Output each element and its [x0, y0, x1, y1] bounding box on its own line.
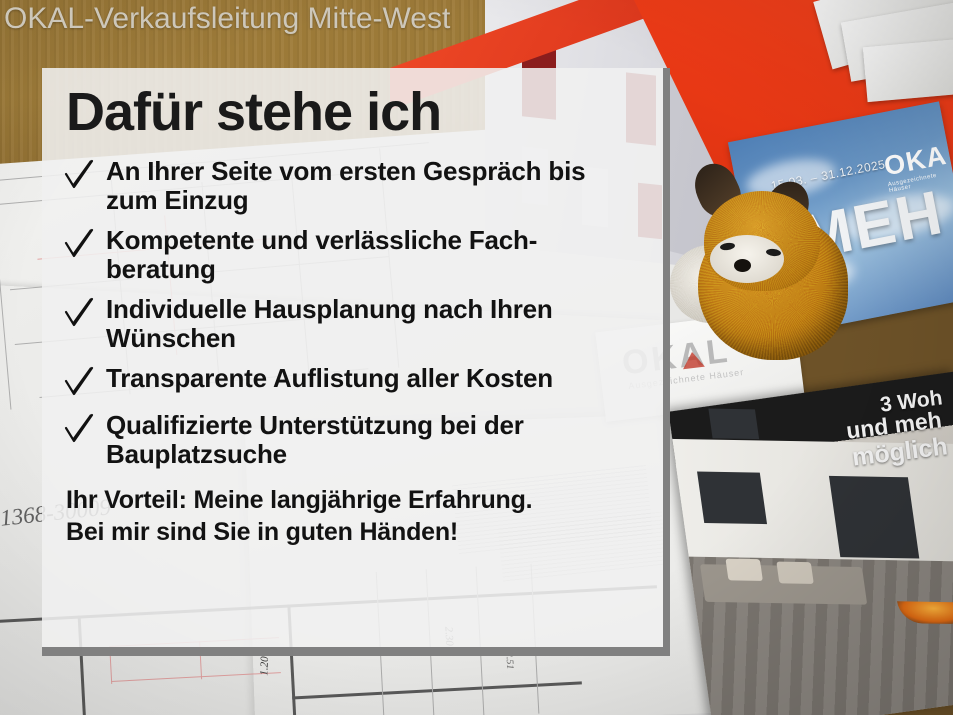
closing-line-2: Bei mir sind Sie in guten Händen! [66, 516, 637, 548]
slide-canvas: 2.30 2.51 1368-30009 1.20 15.03. – 31. [0, 0, 953, 715]
list-item: Individuelle Hausplanung nach Ihren Wüns… [64, 295, 637, 353]
checkmark-icon [64, 297, 94, 331]
list-item-label: Kompetente und verlässliche Fach-beratun… [106, 226, 637, 284]
page-title: OKAL-Verkaufsleitung Mitte-West [4, 2, 450, 36]
checkmark-icon [64, 413, 94, 447]
content-panel: Dafür stehe ich An Ihrer Seite vom erste… [42, 68, 670, 656]
closing-statement: Ihr Vorteil: Meine langjährige Erfahrung… [66, 484, 637, 548]
checkmark-icon [64, 228, 94, 262]
list-item: Kompetente und verlässliche Fach-beratun… [64, 226, 637, 284]
benefits-list: An Ihrer Seite vom ersten Gespräch bis z… [64, 157, 637, 470]
checkmark-icon [64, 159, 94, 193]
list-item-label: Individuelle Hausplanung nach Ihren Wüns… [106, 295, 637, 353]
checkmark-icon [64, 366, 94, 400]
list-item: Transparente Auflistung aller Kosten [64, 364, 637, 400]
list-item-label: Transparente Auflistung aller Kosten [106, 364, 553, 393]
closing-line-1: Ihr Vorteil: Meine langjährige Erfahrung… [66, 484, 637, 516]
list-item: An Ihrer Seite vom ersten Gespräch bis z… [64, 157, 637, 215]
panel-headline: Dafür stehe ich [66, 84, 637, 141]
list-item-label: An Ihrer Seite vom ersten Gespräch bis z… [106, 157, 637, 215]
list-item: Qualifizierte Unterstützung bei der Baup… [64, 411, 637, 469]
list-item-label: Qualifizierte Unterstützung bei der Baup… [106, 411, 637, 469]
